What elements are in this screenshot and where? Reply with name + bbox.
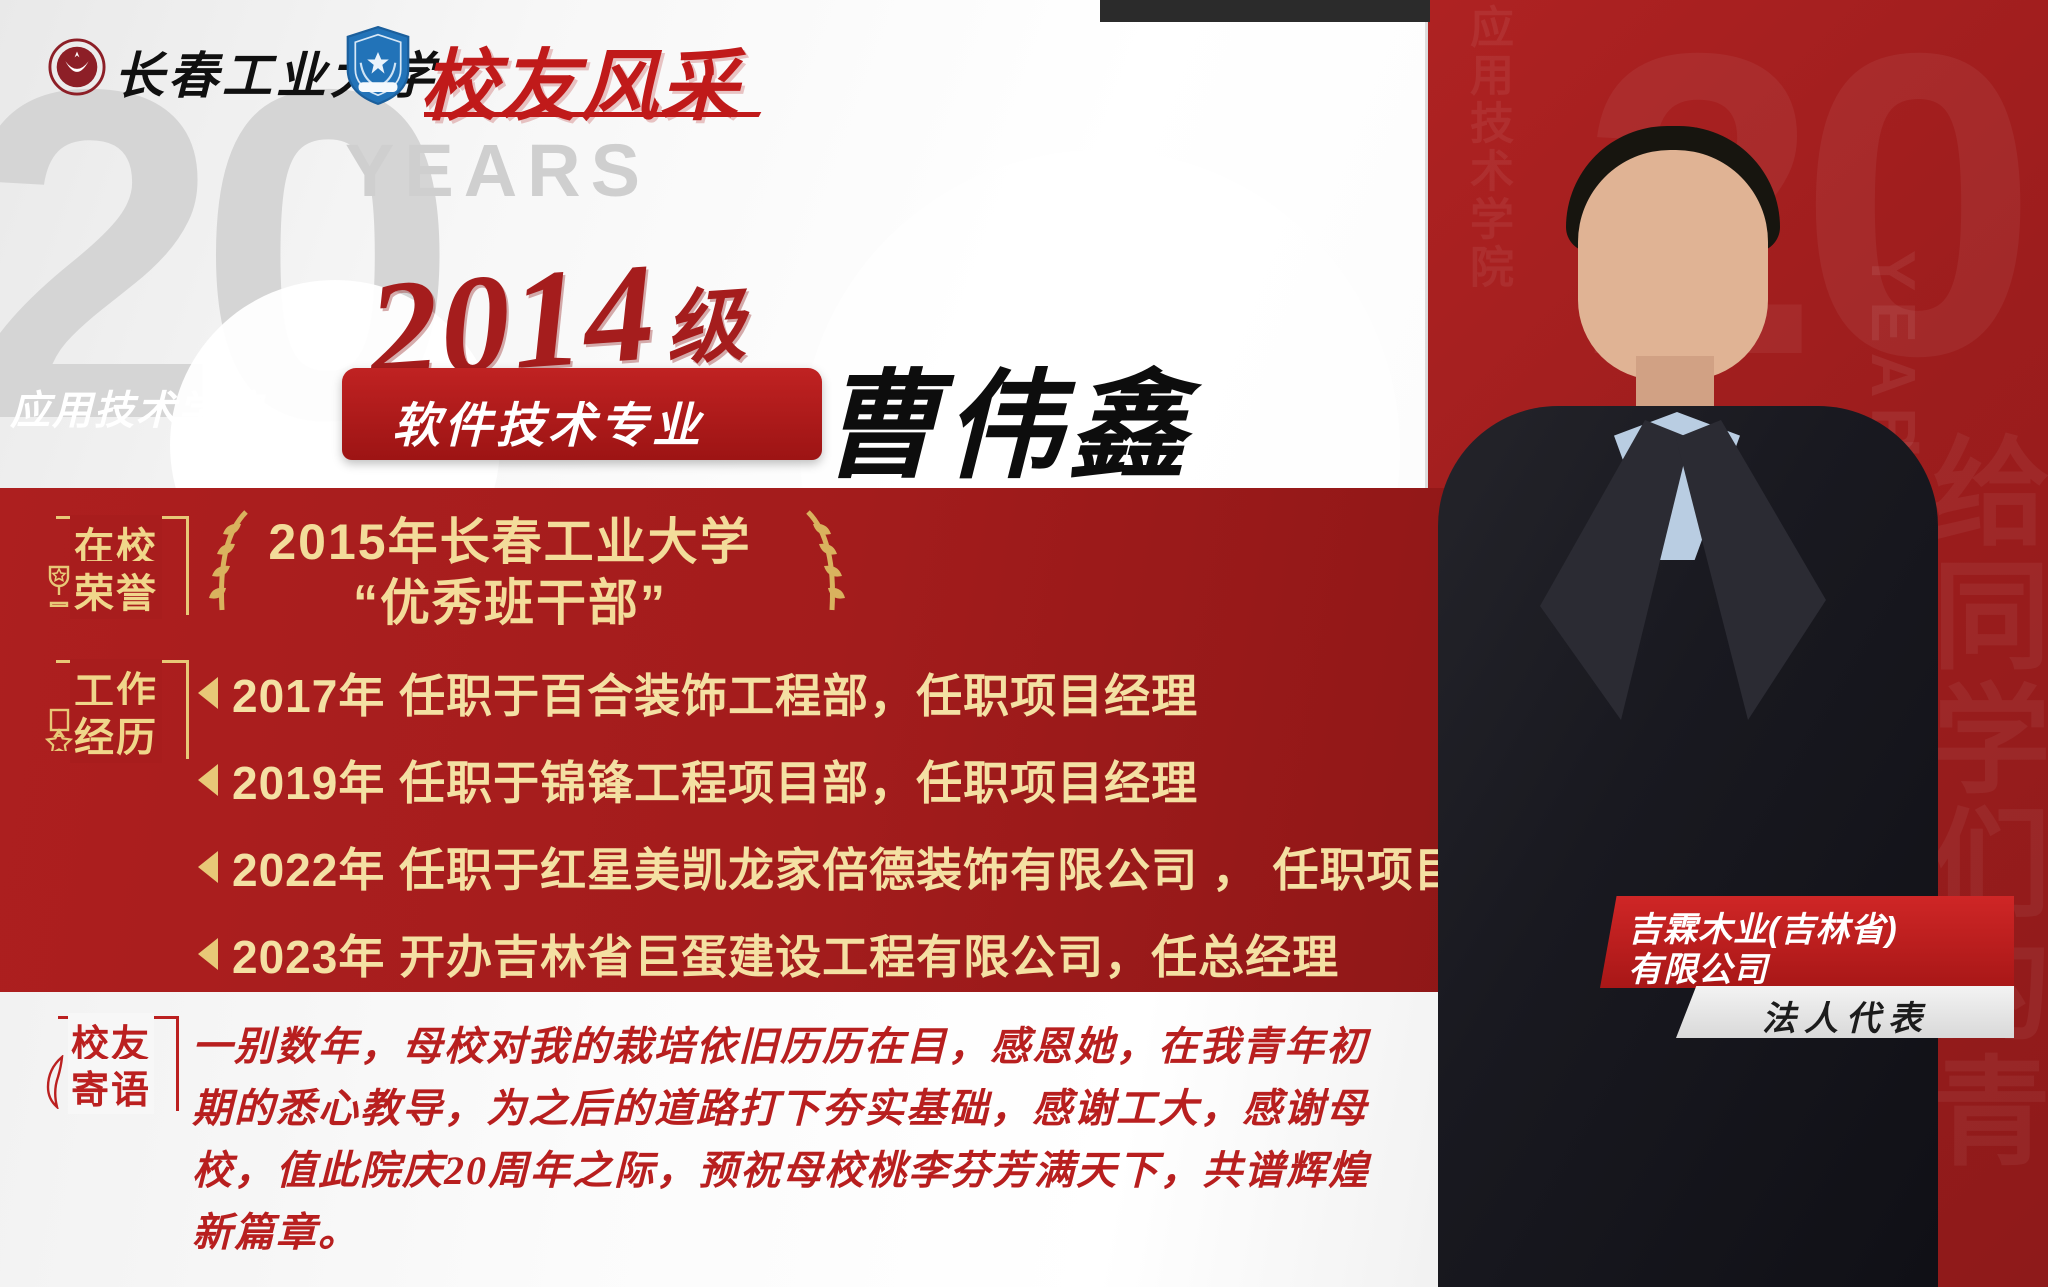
university-emblem-icon <box>48 38 106 96</box>
major-label: 软件技术专业 <box>392 386 704 456</box>
class-year-suffix: 级 <box>662 282 750 376</box>
honor-line-2: “优秀班干部” <box>200 573 820 634</box>
person-name: 曹伟鑫 <box>820 330 1192 501</box>
shield-crest-icon <box>345 26 411 106</box>
honor-text-block: 2015年长春工业大学 “优秀班干部” <box>200 512 820 634</box>
experience-tag-line2: 经历 <box>70 705 162 763</box>
background-dark-strip <box>1100 0 1430 22</box>
pen-icon <box>42 1055 72 1109</box>
trophy-icon <box>42 563 76 607</box>
bullet-arrow-icon <box>198 764 218 796</box>
bullet-arrow-icon <box>198 851 218 883</box>
experience-item-text: 2019年 任职于锦锋工程项目部，任职项目经理 <box>232 747 1198 813</box>
honor-tag-line2: 荣誉 <box>70 561 162 619</box>
experience-item: 2017年 任职于百合装饰工程部，任职项目经理 <box>198 660 1555 726</box>
company-label: 吉霖木业(吉林省) 有限公司 <box>1600 896 2014 988</box>
ribbon-star-icon <box>42 707 76 751</box>
message-text: 一别数年，母校对我的栽培依旧历历在目，感恩她，在我青年初期的悉心教导，为之后的道… <box>192 1016 1372 1264</box>
brand-underline-tail <box>699 112 762 117</box>
honor-section-tag: 在校 荣誉 <box>56 516 189 615</box>
experience-item: 2019年 任职于锦锋工程项目部，任职项目经理 <box>198 747 1555 813</box>
portrait-head <box>1578 150 1768 380</box>
bullet-arrow-icon <box>198 938 218 970</box>
honor-line-1: 2015年长春工业大学 <box>200 512 820 573</box>
message-tag-line2: 寄语 <box>68 1059 154 1114</box>
company-name-line2: 有限公司 <box>1628 942 1768 991</box>
college-badge: 应用技术学院 <box>10 378 262 436</box>
message-section-tag: 校友 寄语 <box>58 1016 179 1111</box>
experience-item: 2022年 任职于红星美凯龙家倍德装饰有限公司 ， 任职项目经理 <box>198 834 1555 900</box>
role-label: 法人代表 <box>1676 986 2014 1038</box>
experience-item: 2023年 开办吉林省巨蛋建设工程有限公司，任总经理 <box>198 921 1555 987</box>
experience-section-tag: 工作 经历 <box>56 660 189 759</box>
major-banner: 软件技术专业 <box>342 368 822 460</box>
brand-underline <box>424 112 714 117</box>
poster-header: 长春工业大学 校友风采 <box>0 0 1000 120</box>
brand-title: 校友风采 <box>420 24 740 136</box>
role-text: 法人代表 <box>1762 991 1930 1040</box>
experience-item-text: 2022年 任职于红星美凯龙家倍德装饰有限公司 ， 任职项目经理 <box>232 834 1555 900</box>
watermark-years-label: YEARS <box>345 128 650 213</box>
alumni-profile-poster: 20 YEARS 20 YEARS 给同学们的青春正茂 应用技术学院 长春工业大… <box>0 0 2048 1287</box>
experience-item-text: 2017年 任职于百合装饰工程部，任职项目经理 <box>232 660 1198 726</box>
experience-item-text: 2023年 开办吉林省巨蛋建设工程有限公司，任总经理 <box>232 921 1339 987</box>
alumnus-portrait-photo <box>1400 120 2020 1287</box>
bullet-arrow-icon <box>198 677 218 709</box>
